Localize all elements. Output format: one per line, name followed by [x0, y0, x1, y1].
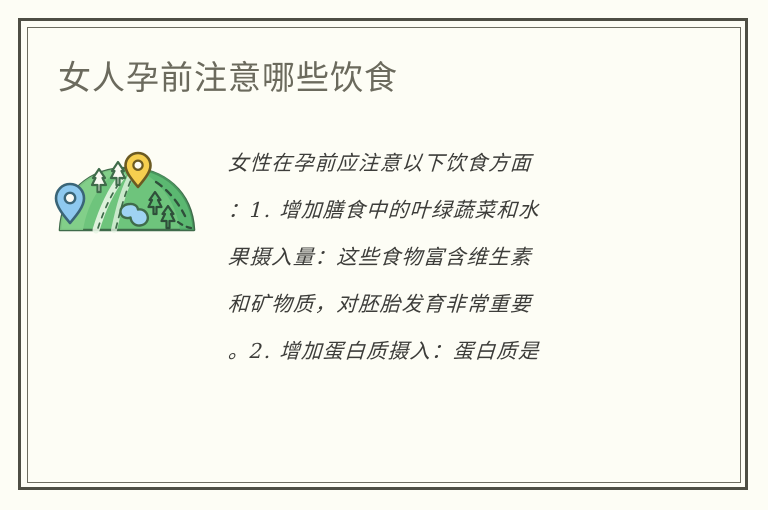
article-card: 女人孕前注意哪些饮食 [0, 0, 768, 510]
article-content-row: 女性在孕前应注意以下饮食方面 ：1. 增加膳食中的叶绿蔬菜和水 果摄入量：这些食… [52, 140, 712, 420]
body-line: 。2. 增加蛋白质摄入：蛋白质是 [227, 328, 669, 375]
body-line: ：1. 增加膳食中的叶绿蔬菜和水 [227, 187, 669, 234]
article-body: 女性在孕前应注意以下饮食方面 ：1. 增加膳食中的叶绿蔬菜和水 果摄入量：这些食… [228, 140, 668, 375]
body-line: 和矿物质，对胚胎发育非常重要 [227, 281, 669, 328]
page-title: 女人孕前注意哪些饮食 [58, 58, 678, 98]
body-line: 女性在孕前应注意以下饮食方面 [227, 140, 669, 187]
map-hill-illustration [52, 148, 202, 240]
body-line: 果摄入量：这些食物富含维生素 [227, 234, 669, 281]
